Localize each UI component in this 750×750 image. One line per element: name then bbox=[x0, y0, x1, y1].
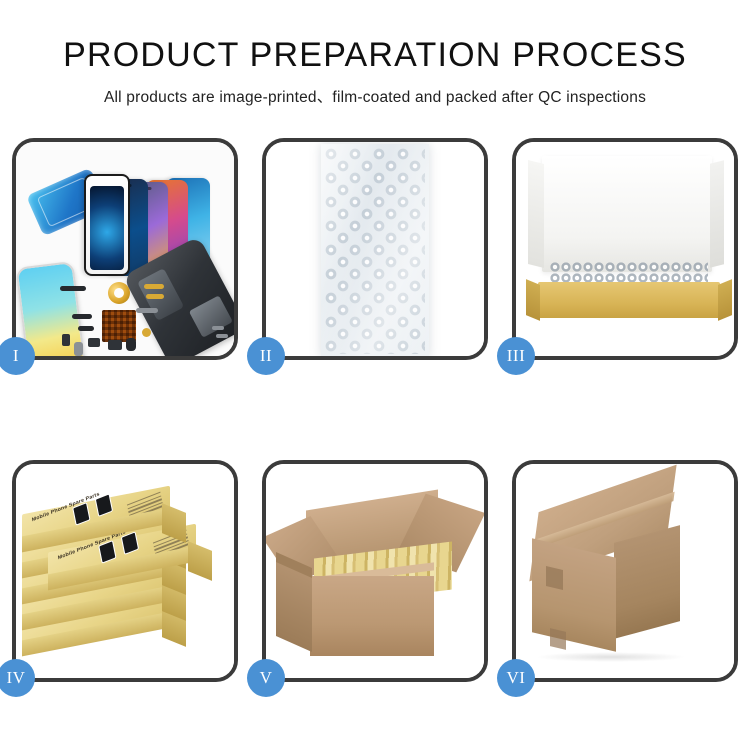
product-preparation-infographic: PRODUCT PREPARATION PROCESS All products… bbox=[0, 0, 750, 750]
phone-thumbnail-icon bbox=[95, 493, 113, 517]
phone-thumbnail-icon bbox=[72, 502, 90, 526]
carton-seam-tab bbox=[546, 566, 563, 590]
page-subtitle: All products are image-printed、film-coat… bbox=[0, 85, 750, 107]
phone-thumbnail-icon bbox=[98, 540, 116, 564]
step-numeral: IV bbox=[7, 668, 26, 688]
spare-part-icon bbox=[144, 284, 164, 289]
step-image-5 bbox=[266, 464, 484, 678]
carton-front-face bbox=[532, 538, 616, 651]
box-lid bbox=[542, 156, 712, 272]
spare-part-icon bbox=[78, 326, 94, 331]
carton-shadow bbox=[536, 652, 686, 662]
phone-screen-icon bbox=[84, 174, 130, 276]
step-image-4: Mobile Phone Spare Parts bbox=[16, 464, 234, 678]
step-card-1: I bbox=[12, 138, 238, 360]
bubble-wrap-strip bbox=[321, 144, 429, 356]
step-badge-2: II bbox=[247, 337, 285, 375]
scene-open-carton-filled-with-boxes bbox=[266, 464, 484, 678]
carton-body bbox=[310, 576, 434, 656]
step-numeral: V bbox=[260, 668, 273, 688]
box-side-face bbox=[188, 541, 212, 581]
step-numeral: VI bbox=[507, 668, 526, 688]
step-card-4: Mobile Phone Spare Parts bbox=[12, 460, 238, 682]
step-image-3 bbox=[516, 142, 734, 356]
scene-sealed-shipping-carton bbox=[516, 464, 734, 678]
step-card-6: VI bbox=[512, 460, 738, 682]
retail-box-stack: Mobile Phone Spare Parts bbox=[22, 482, 234, 678]
step-image-2 bbox=[266, 142, 484, 356]
page-title: PRODUCT PREPARATION PROCESS bbox=[0, 36, 750, 75]
scene-phone-screens-and-spare-parts bbox=[16, 142, 234, 356]
spare-part-icon bbox=[60, 286, 86, 291]
step-badge-6: VI bbox=[497, 659, 535, 697]
step-badge-1: I bbox=[0, 337, 35, 375]
step-image-6 bbox=[516, 464, 734, 678]
carton-right-face bbox=[614, 525, 680, 639]
step-card-5: V bbox=[262, 460, 488, 682]
scene-open-kraft-box-with-bubble-wrapped-items bbox=[516, 142, 734, 356]
plastic-sheen bbox=[321, 144, 429, 356]
spare-part-icon bbox=[136, 308, 158, 313]
step-numeral: II bbox=[260, 346, 272, 366]
spare-part-icon bbox=[146, 294, 164, 299]
bubble-wrapped-contents bbox=[550, 262, 708, 284]
spare-part-icon bbox=[62, 334, 70, 346]
step-badge-4: IV bbox=[0, 659, 35, 697]
step-card-3: III bbox=[512, 138, 738, 360]
kraft-box-tray bbox=[538, 282, 720, 318]
copper-coil-part-icon bbox=[108, 282, 130, 304]
step-numeral: I bbox=[13, 346, 19, 366]
step-badge-3: III bbox=[497, 337, 535, 375]
spare-part-icon bbox=[74, 342, 83, 356]
spare-part-icon bbox=[108, 340, 122, 350]
step-badge-5: V bbox=[247, 659, 285, 697]
scene-bubble-wrap-sheet bbox=[266, 142, 484, 356]
carton-seam-tab bbox=[550, 628, 566, 650]
screw-icon bbox=[212, 326, 224, 330]
step-card-2: II bbox=[262, 138, 488, 360]
scene-stacked-retail-boxes: Mobile Phone Spare Parts bbox=[16, 464, 234, 678]
header: PRODUCT PREPARATION PROCESS All products… bbox=[0, 0, 750, 107]
phone-thumbnail-icon bbox=[121, 531, 139, 555]
step-image-1 bbox=[16, 142, 234, 356]
step-numeral: III bbox=[507, 346, 525, 366]
retail-box-labelled: Mobile Phone Spare Parts bbox=[22, 500, 170, 522]
screw-icon bbox=[216, 334, 228, 338]
spare-part-icon bbox=[88, 338, 100, 347]
spare-part-icon bbox=[142, 328, 151, 337]
spare-part-icon bbox=[126, 338, 136, 351]
spare-part-icon bbox=[72, 314, 92, 319]
steps-grid: I II bbox=[12, 138, 738, 684]
